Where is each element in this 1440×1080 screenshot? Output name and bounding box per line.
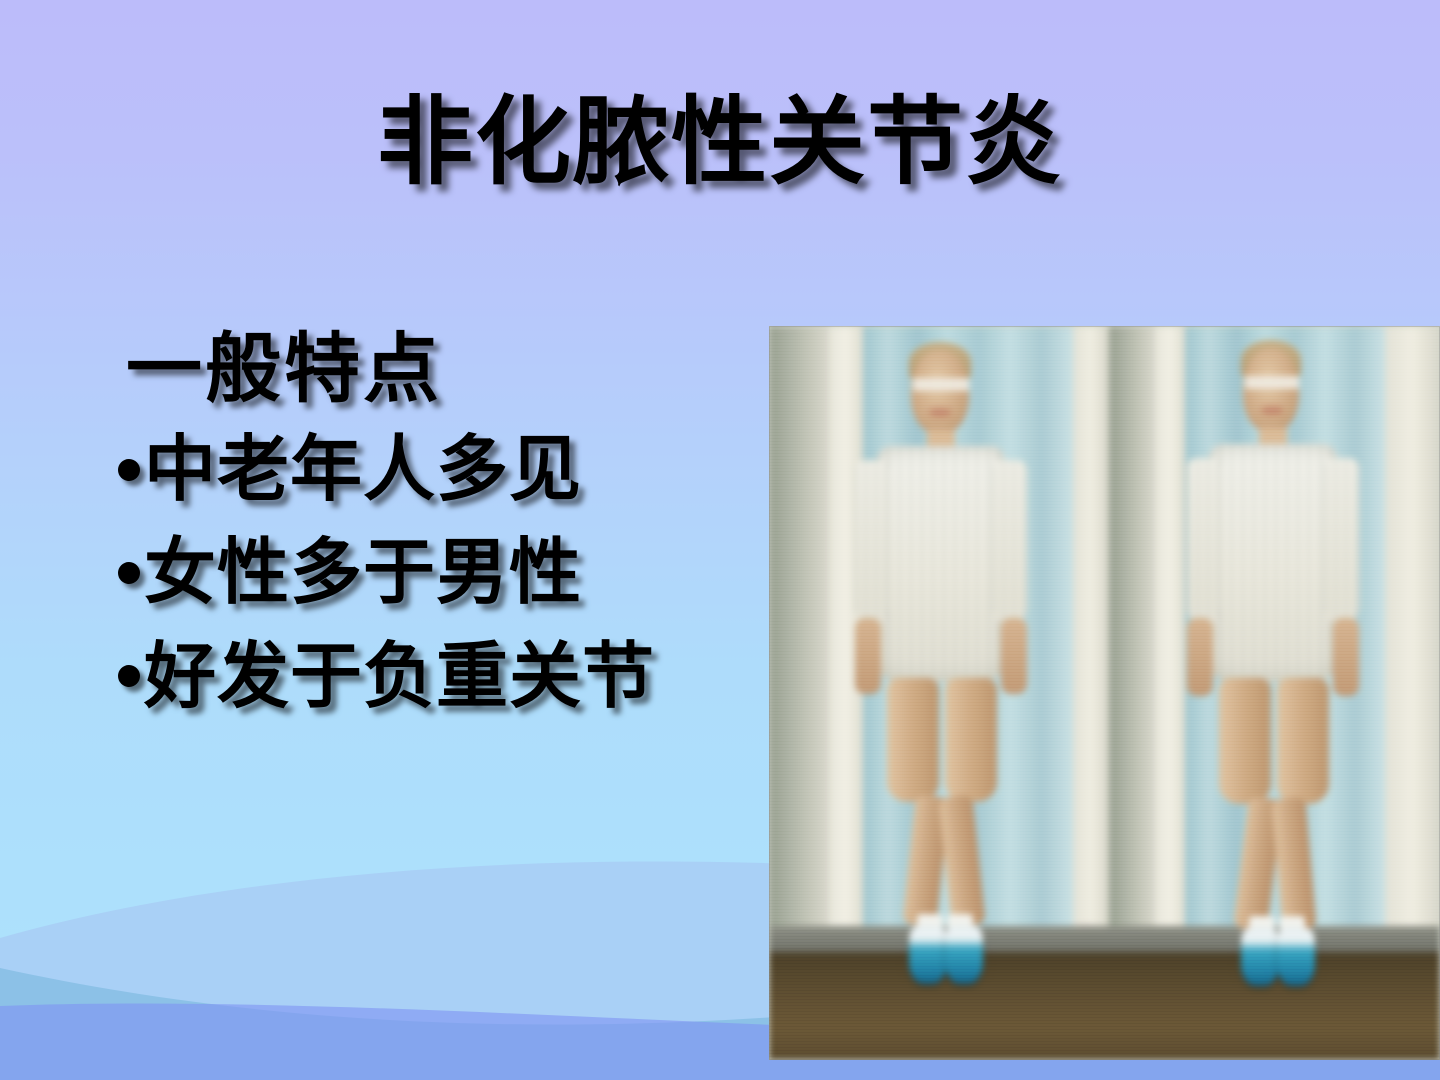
sleeve-left	[855, 460, 889, 624]
list-item-label: 好发于负重关节	[144, 632, 655, 721]
list-item: 女性多于男性	[118, 528, 758, 617]
arm-left	[855, 618, 881, 694]
photo-pane-right	[1109, 326, 1440, 1060]
shirt-2	[1209, 444, 1337, 682]
head-2	[1243, 348, 1299, 432]
slide-root: 非化脓性关节炎 一般特点 中老年人多见 女性多于男性 好发于负重关节	[0, 0, 1440, 1080]
arm-left-2	[1187, 618, 1213, 696]
clinical-photo	[769, 326, 1440, 1060]
list-item-label: 中老年人多见	[144, 425, 582, 514]
thigh-right-2	[1277, 678, 1329, 804]
bullet-dot-icon	[118, 459, 140, 481]
thigh-left	[887, 678, 939, 802]
eye-bar-2	[1245, 376, 1299, 389]
bullet-dot-icon	[118, 665, 140, 687]
list-item: 中老年人多见	[118, 425, 758, 514]
sleeve-left-2	[1187, 458, 1221, 624]
thigh-left-2	[1219, 678, 1271, 804]
head	[911, 350, 969, 434]
shoe-right	[945, 926, 983, 984]
list-item-label: 女性多于男性	[144, 528, 582, 617]
arm-right-2	[1333, 618, 1359, 696]
mouth	[929, 408, 951, 417]
eye-bar	[913, 378, 969, 391]
content-block: 一般特点 中老年人多见 女性多于男性 好发于负重关节	[118, 326, 758, 721]
content-heading: 一般特点	[118, 326, 758, 411]
shoe-left	[909, 926, 947, 984]
sleeve-right-2	[1325, 458, 1359, 624]
list-item: 好发于负重关节	[118, 632, 758, 721]
shoe-right-2	[1277, 928, 1315, 986]
page-title: 非化脓性关节炎	[0, 92, 1440, 193]
shirt	[877, 446, 1005, 682]
thigh-right	[945, 678, 997, 802]
mouth-2	[1261, 406, 1283, 415]
photo-pane-left	[769, 326, 1109, 1060]
arm-right	[1001, 618, 1027, 694]
sleeve-right	[993, 460, 1027, 624]
bullet-dot-icon	[118, 562, 140, 584]
shoe-left-2	[1241, 928, 1279, 986]
clinical-photo-content	[769, 326, 1440, 1060]
